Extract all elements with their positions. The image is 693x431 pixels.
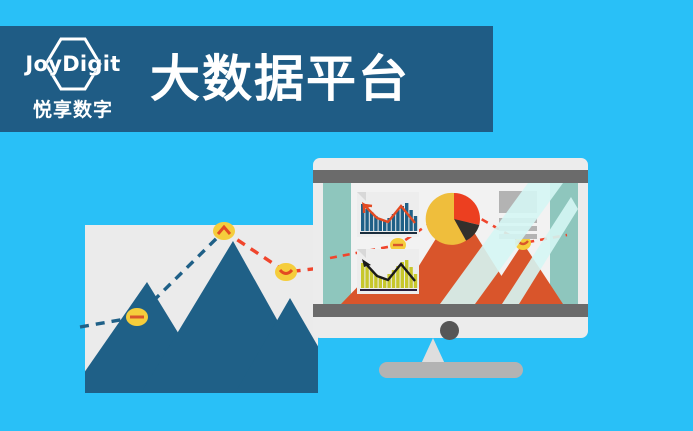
left-chart-panel [85,225,318,393]
logo-subtitle: 悦享数字 [33,95,113,122]
desktop-monitor [313,158,588,338]
poster-canvas: JoyDigit 悦享数字 大数据平台 [0,0,693,431]
screen-glare [323,183,578,304]
monitor-top-bar [313,170,588,183]
monitor-screen [323,183,578,304]
logo-wordmark: JoyDigit [25,52,120,76]
monitor-bottom-bar [313,304,588,317]
page-title: 大数据平台 [150,54,410,104]
monitor-base [379,362,523,378]
brand-logo: JoyDigit 悦享数字 [14,33,132,125]
header-banner: JoyDigit 悦享数字 大数据平台 [0,26,493,132]
monitor-stand-neck [421,338,445,364]
logo-hexagon-wrap: JoyDigit [21,36,125,92]
blue-mountains-shape [85,225,318,393]
